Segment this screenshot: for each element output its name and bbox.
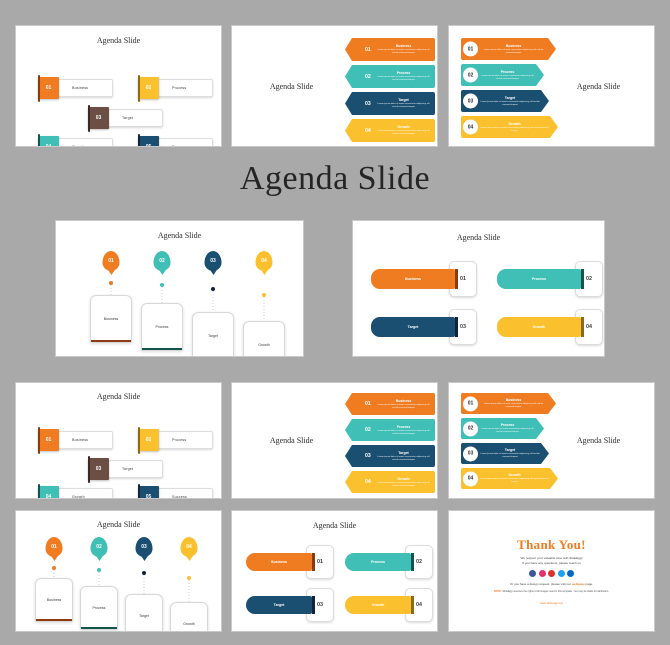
- chevron-body: Lorem ipsum dolor sit amet consectetur a…: [480, 49, 547, 55]
- thank-you-subtitle-line2: If you have any questions, please reach …: [520, 561, 582, 566]
- bar-item-02[interactable]: 02 Process: [497, 269, 603, 289]
- bar-accent: [455, 269, 458, 289]
- chevron-number-circle: 02: [462, 420, 479, 437]
- chevron-number: 03: [365, 453, 371, 459]
- flag-label: Success: [172, 495, 187, 499]
- flag-number: 02: [146, 438, 152, 443]
- flag-label: Business: [72, 86, 88, 90]
- chevron-text: Target Lorem ipsum dolor sit amet consec…: [377, 447, 430, 465]
- pin-connector: [189, 580, 190, 602]
- slide-title: Agenda Slide: [244, 436, 339, 445]
- bar-item-04[interactable]: 04 Growth: [497, 317, 603, 337]
- bar-number: 02: [416, 559, 422, 565]
- twitter-icon[interactable]: [558, 570, 565, 577]
- chevron-text: Process Lorem ipsum dolor sit amet conse…: [480, 420, 535, 437]
- bar-number: 01: [460, 276, 466, 282]
- bar-label: Process: [371, 560, 385, 564]
- flag-badge: 05: [138, 136, 159, 147]
- flag-number: 05: [146, 495, 152, 500]
- chevron-item-02[interactable]: 02 Process Lorem ipsum dolor sit amet co…: [345, 65, 435, 88]
- bar-shape: Process: [345, 553, 411, 571]
- bar-accent: [312, 596, 315, 614]
- slide-bars-row4-middle[interactable]: Agenda Slide 01 Business 02 Process 03: [231, 510, 438, 632]
- chevron-number: 04: [365, 479, 371, 485]
- flag-number: 04: [46, 145, 52, 148]
- chevron-number: 02: [468, 426, 474, 432]
- chevron-label: Business: [396, 399, 412, 403]
- chevron-number: 04: [468, 476, 474, 482]
- bar-label: Business: [405, 277, 421, 281]
- pin-label: Target: [139, 614, 149, 618]
- bar-accent: [581, 269, 584, 289]
- pin-card: Growth: [243, 321, 285, 357]
- contact-post: page.: [585, 582, 593, 586]
- chevron-number: 03: [468, 98, 474, 104]
- flag-badge: 05: [138, 486, 159, 499]
- slide-title: Agenda Slide: [353, 233, 604, 242]
- pin-card-base: [91, 340, 131, 343]
- flag-label: Growth: [72, 495, 85, 499]
- pin-label: Business: [47, 598, 62, 602]
- pin-marker: 04: [256, 251, 273, 271]
- chevron-label: Target: [505, 448, 515, 452]
- slide-flags-row3-left[interactable]: Agenda Slide 01 Business 02 Process 03 T…: [15, 382, 222, 499]
- chevron-label: Process: [397, 425, 411, 429]
- flag-label: Target: [122, 116, 133, 120]
- chevron-number: 02: [365, 427, 371, 433]
- bar-shape: Target: [246, 596, 312, 614]
- bar-label: Business: [271, 560, 287, 564]
- slide-title: Agenda Slide: [551, 82, 646, 91]
- chevron-body: Lorem ipsum dolor sit amet consectetur a…: [377, 456, 430, 462]
- bar-accent: [411, 553, 414, 571]
- pin-card: Process: [80, 586, 118, 630]
- pin-item-02[interactable]: 02 Process: [78, 537, 120, 632]
- pin-item-04[interactable]: 04 Growth: [241, 251, 287, 357]
- chevron-label: Process: [501, 423, 515, 427]
- bar-item-04[interactable]: 04 Growth: [345, 596, 433, 614]
- flag-number: 03: [96, 467, 102, 472]
- note-text: SlideEgg reserves the rights of all imag…: [502, 590, 609, 593]
- chevron-item-01[interactable]: 01 Business Lorem ipsum dolor sit amet c…: [461, 38, 556, 60]
- chevron-body: Lorem ipsum dolor sit amet consectetur a…: [480, 127, 549, 133]
- chevron-item-01[interactable]: 01 Business Lorem ipsum dolor sit amet c…: [345, 393, 435, 415]
- pin-number: 02: [159, 258, 165, 264]
- pin-connector: [54, 570, 55, 578]
- flag-number: 02: [146, 86, 152, 91]
- chevron-label: Target: [398, 451, 408, 455]
- pin-connector: [162, 287, 163, 303]
- flag-item-03[interactable]: 03 Target: [88, 109, 163, 127]
- flag-badge: 01: [38, 429, 59, 451]
- flag-pole: [38, 484, 40, 499]
- pin-number: 03: [141, 544, 147, 550]
- bar-shape: Business: [371, 269, 455, 289]
- flag-number: 01: [46, 438, 52, 443]
- flag-badge: 04: [38, 486, 59, 499]
- chevron-text: Process Lorem ipsum dolor sit amet conse…: [377, 67, 430, 86]
- chevron-text: Target Lorem ipsum dolor sit amet consec…: [480, 445, 540, 462]
- pin-item-03[interactable]: 03 Target: [190, 251, 236, 357]
- flag-badge: 01: [38, 77, 59, 99]
- bar-accent: [581, 317, 584, 337]
- chevron-number-circle: 04: [462, 470, 479, 487]
- slide-chevrons-row3-right[interactable]: Agenda Slide 01 Business Lorem ipsum dol…: [448, 382, 655, 499]
- pin-connector: [264, 297, 265, 321]
- chevron-label: Growth: [508, 473, 520, 477]
- chevron-label: Business: [506, 44, 522, 48]
- pin-connector: [213, 291, 214, 312]
- chevron-label: Target: [505, 96, 515, 100]
- flag-label: Target: [122, 467, 133, 471]
- chevron-item-02[interactable]: 02 Process Lorem ipsum dolor sit amet co…: [345, 419, 435, 441]
- pin-label: Target: [208, 334, 218, 338]
- chevron-item-04[interactable]: 04 Growth Lorem ipsum dolor sit amet con…: [345, 119, 435, 142]
- contact-line: Or you have a design request, please vis…: [510, 582, 593, 587]
- bar-label: Growth: [533, 325, 546, 329]
- pin-marker: 03: [136, 537, 153, 557]
- flag-item-04[interactable]: 04 Growth: [38, 138, 113, 147]
- attribution-note: NOTE: SlideEgg reserves the rights of al…: [494, 590, 609, 594]
- pin-marker: 01: [103, 251, 120, 271]
- chevron-text: Growth Lorem ipsum dolor sit amet consec…: [377, 473, 430, 491]
- slide-chevrons-top-right[interactable]: Agenda Slide 01 Business Lorem ipsum dol…: [448, 25, 655, 147]
- flag-pole: [138, 427, 140, 454]
- flag-pole: [138, 134, 140, 147]
- chevron-text: Growth Lorem ipsum dolor sit amet consec…: [377, 121, 430, 140]
- chevron-label: Business: [396, 44, 412, 48]
- slide-flags-top-left[interactable]: Agenda Slide 01 Business 02 Process 03 T…: [15, 25, 222, 147]
- chevron-number: 01: [365, 401, 371, 407]
- pin-card-base: [81, 627, 117, 630]
- chevron-text: Growth Lorem ipsum dolor sit amet consec…: [480, 470, 549, 487]
- pin-marker: 02: [154, 251, 171, 271]
- chevron-text: Business Lorem ipsum dolor sit amet cons…: [377, 395, 430, 413]
- chevron-body: Lorem ipsum dolor sit amet consectetur a…: [377, 76, 430, 82]
- chevron-body: Lorem ipsum dolor sit amet consectetur a…: [480, 403, 547, 409]
- chevron-item-03[interactable]: 03 Target Lorem ipsum dolor sit amet con…: [345, 92, 435, 115]
- linkedin-icon[interactable]: [567, 570, 574, 577]
- pin-card: Target: [125, 594, 163, 632]
- chevron-label: Process: [397, 71, 411, 75]
- bar-accent: [312, 553, 315, 571]
- slide-pins-mid-left[interactable]: Agenda Slide 01 Business 02 Process: [55, 220, 304, 357]
- pin-connector: [144, 575, 145, 594]
- chevron-text: Business Lorem ipsum dolor sit amet cons…: [480, 40, 547, 58]
- pin-number: 04: [261, 258, 267, 264]
- pin-number: 03: [210, 258, 216, 264]
- chevron-item-03[interactable]: 03 Target Lorem ipsum dolor sit amet con…: [461, 90, 549, 112]
- bar-label: Target: [274, 603, 285, 607]
- bar-accent: [455, 317, 458, 337]
- flag-label: Business: [72, 438, 88, 442]
- bar-shape: Target: [371, 317, 455, 337]
- instagram-icon[interactable]: [539, 570, 546, 577]
- pin-number: 02: [96, 544, 102, 550]
- bar-label: Process: [532, 277, 546, 281]
- chevron-body: Lorem ipsum dolor sit amet consectetur a…: [377, 404, 430, 410]
- chevron-label: Process: [501, 70, 515, 74]
- chevron-text: Process Lorem ipsum dolor sit amet conse…: [377, 421, 430, 439]
- pin-label: Process: [93, 606, 106, 610]
- pin-label: Growth: [183, 622, 195, 626]
- flag-item-05[interactable]: 05 Success: [138, 138, 213, 147]
- bar-number: 01: [317, 559, 323, 565]
- chevron-text: Business Lorem ipsum dolor sit amet cons…: [377, 40, 430, 59]
- bar-label: Growth: [372, 603, 385, 607]
- chevron-body: Lorem ipsum dolor sit amet consectetur a…: [480, 453, 540, 459]
- pin-card: Target: [192, 312, 234, 357]
- pin-number: 01: [51, 544, 57, 550]
- thank-you-content: Thank You! We respect your valuable time…: [449, 511, 654, 631]
- pin-marker: 01: [46, 537, 63, 557]
- pin-card: Growth: [170, 602, 208, 632]
- bar-shape: Growth: [345, 596, 411, 614]
- chevron-text: Target Lorem ipsum dolor sit amet consec…: [480, 92, 540, 110]
- slide-title: Agenda Slide: [56, 231, 303, 240]
- bar-item-03[interactable]: 03 Target: [246, 596, 334, 614]
- flag-item-04[interactable]: 04 Growth: [38, 488, 113, 499]
- bar-accent: [411, 596, 414, 614]
- chevron-item-01[interactable]: 01 Business Lorem ipsum dolor sit amet c…: [461, 393, 556, 414]
- flag-label: Success: [172, 145, 187, 147]
- pin-label: Growth: [258, 343, 270, 347]
- chevron-label: Growth: [508, 122, 520, 126]
- slide-title: Agenda Slide: [244, 82, 339, 91]
- chevron-label: Business: [506, 398, 522, 402]
- slide-title: Agenda Slide: [232, 521, 437, 530]
- pin-item-01[interactable]: 01 Business: [88, 251, 134, 351]
- site-url[interactable]: www.slideegg.com: [540, 601, 563, 605]
- flag-number: 05: [146, 145, 152, 148]
- note-label: NOTE:: [494, 590, 502, 593]
- chevron-number-circle: 01: [462, 395, 479, 412]
- bar-number: 03: [460, 324, 466, 330]
- facebook-icon[interactable]: [529, 570, 536, 577]
- flag-pole: [38, 134, 40, 147]
- pin-number: 04: [186, 544, 192, 550]
- chevron-item-01[interactable]: 01 Business Lorem ipsum dolor sit amet c…: [345, 38, 435, 61]
- chevron-text: Business Lorem ipsum dolor sit amet cons…: [480, 395, 547, 412]
- flag-item-02[interactable]: 02 Process: [138, 79, 213, 97]
- chevron-number: 01: [468, 46, 474, 52]
- bar-label: Target: [408, 325, 419, 329]
- slide-title: Agenda Slide: [16, 520, 221, 529]
- chevron-number-circle: 03: [462, 445, 479, 462]
- chevron-number-circle: 01: [462, 41, 479, 58]
- pin-connector: [111, 285, 112, 295]
- pin-card-base: [142, 348, 182, 351]
- flag-label: Growth: [72, 145, 85, 147]
- chevron-number-circle: 03: [462, 93, 479, 110]
- chevron-label: Target: [398, 98, 408, 102]
- pin-item-01[interactable]: 01 Business: [33, 537, 75, 629]
- slide-title: Agenda Slide: [551, 436, 646, 445]
- pin-item-03[interactable]: 03 Target: [123, 537, 165, 632]
- pin-item-02[interactable]: 02 Process: [139, 251, 185, 357]
- flag-label: Process: [172, 438, 186, 442]
- chevron-text: Target Lorem ipsum dolor sit amet consec…: [377, 94, 430, 113]
- flag-pole: [138, 75, 140, 102]
- chevron-number: 04: [468, 124, 474, 130]
- chevron-number: 04: [365, 128, 371, 134]
- flag-pole: [38, 427, 40, 454]
- slide-title: Agenda Slide: [16, 36, 221, 45]
- pin-card-base: [193, 357, 233, 358]
- chevron-number: 02: [365, 74, 371, 80]
- pin-item-04[interactable]: 04 Growth: [168, 537, 210, 632]
- chevron-body: Lorem ipsum dolor sit amet consectetur a…: [377, 49, 430, 55]
- slide-bars-mid-right[interactable]: Agenda Slide 01 Business 02 Process 03: [352, 220, 605, 357]
- flag-badge: 03: [88, 107, 109, 129]
- chevron-body: Lorem ipsum dolor sit amet consectetur a…: [480, 478, 549, 484]
- chevron-body: Lorem ipsum dolor sit amet consectetur a…: [377, 130, 430, 136]
- pin-card: Business: [90, 295, 132, 343]
- chevron-body: Lorem ipsum dolor sit amet consectetur a…: [480, 101, 540, 107]
- webpage-link[interactable]: webpage: [572, 582, 585, 586]
- thank-you-title: Thank You!: [517, 537, 586, 553]
- flag-item-03[interactable]: 03 Target: [88, 460, 163, 478]
- bar-shape: Process: [497, 269, 581, 289]
- chevron-number: 01: [365, 47, 371, 53]
- pin-card: Process: [141, 303, 183, 351]
- pin-card-base: [36, 619, 72, 622]
- pin-label: Business: [104, 317, 119, 321]
- flag-badge: 02: [138, 77, 159, 99]
- flag-number: 04: [46, 495, 52, 500]
- slide-chevrons-row3-middle[interactable]: Agenda Slide 01 Business Lorem ipsum dol…: [231, 382, 438, 499]
- presentation-preview-page: Agenda Slide 01 Business 02 Process 03 T…: [0, 0, 670, 645]
- chevron-number: 01: [468, 401, 474, 407]
- flag-badge: 03: [88, 458, 109, 480]
- youtube-icon[interactable]: [548, 570, 555, 577]
- flag-badge: 04: [38, 136, 59, 147]
- slide-chevrons-top-middle[interactable]: Agenda Slide 01 Business Lorem ipsum dol…: [231, 25, 438, 147]
- chevron-number: 03: [365, 101, 371, 107]
- chevron-text: Growth Lorem ipsum dolor sit amet consec…: [480, 118, 549, 136]
- chevron-body: Lorem ipsum dolor sit amet consectetur a…: [377, 482, 430, 488]
- page-title: Agenda Slide: [0, 160, 670, 198]
- chevron-item-04[interactable]: 04 Growth Lorem ipsum dolor sit amet con…: [461, 116, 558, 138]
- pin-number: 01: [108, 258, 114, 264]
- flag-pole: [138, 484, 140, 499]
- pin-label: Process: [156, 325, 169, 329]
- flag-pole: [88, 456, 90, 483]
- bar-item-01[interactable]: 01 Business: [246, 553, 334, 571]
- chevron-body: Lorem ipsum dolor sit amet consectetur a…: [377, 103, 430, 109]
- chevron-item-04[interactable]: 04 Growth Lorem ipsum dolor sit amet con…: [461, 468, 558, 489]
- chevron-number-circle: 04: [462, 119, 479, 136]
- social-links[interactable]: [529, 570, 574, 577]
- flag-pole: [38, 75, 40, 102]
- slide-thank-you[interactable]: Thank You! We respect your valuable time…: [448, 510, 655, 632]
- thank-you-subtitle: We respect your valuable time with Slide…: [520, 556, 582, 566]
- chevron-item-02[interactable]: 02 Process Lorem ipsum dolor sit amet co…: [461, 64, 544, 86]
- flag-number: 01: [46, 86, 52, 91]
- bar-number: 03: [317, 602, 323, 608]
- bar-item-02[interactable]: 02 Process: [345, 553, 433, 571]
- pin-marker: 02: [91, 537, 108, 557]
- bar-number: 04: [586, 324, 592, 330]
- chevron-label: Growth: [397, 477, 409, 481]
- chevron-text: Process Lorem ipsum dolor sit amet conse…: [480, 66, 535, 84]
- flag-item-02[interactable]: 02 Process: [138, 431, 213, 449]
- flag-item-05[interactable]: 05 Success: [138, 488, 213, 499]
- pin-marker: 04: [181, 537, 198, 557]
- bar-shape: Growth: [497, 317, 581, 337]
- flag-label: Process: [172, 86, 186, 90]
- contact-pre: Or you have a design request, please vis…: [510, 582, 572, 586]
- bar-number: 02: [586, 276, 592, 282]
- chevron-number-circle: 02: [462, 67, 479, 84]
- slide-title: Agenda Slide: [16, 392, 221, 401]
- flag-pole: [88, 105, 90, 132]
- flag-badge: 02: [138, 429, 159, 451]
- bar-shape: Business: [246, 553, 312, 571]
- chevron-item-02[interactable]: 02 Process Lorem ipsum dolor sit amet co…: [461, 418, 544, 439]
- flag-number: 03: [96, 116, 102, 121]
- chevron-label: Growth: [397, 125, 409, 129]
- bar-item-01[interactable]: 01 Business: [371, 269, 477, 289]
- chevron-item-04[interactable]: 04 Growth Lorem ipsum dolor sit amet con…: [345, 471, 435, 493]
- bar-number: 04: [416, 602, 422, 608]
- chevron-number: 02: [468, 72, 474, 78]
- chevron-number: 03: [468, 451, 474, 457]
- flag-item-01[interactable]: 01 Business: [38, 79, 113, 97]
- chevron-body: Lorem ipsum dolor sit amet consectetur a…: [377, 430, 430, 436]
- slide-pins-row4-left[interactable]: Agenda Slide 01 Business 02 Process: [15, 510, 222, 632]
- pin-connector: [99, 572, 100, 586]
- pin-card: Business: [35, 578, 73, 622]
- pin-marker: 03: [205, 251, 222, 271]
- chevron-body: Lorem ipsum dolor sit amet consectetur a…: [480, 75, 535, 81]
- chevron-body: Lorem ipsum dolor sit amet consectetur a…: [480, 428, 535, 434]
- chevron-item-03[interactable]: 03 Target Lorem ipsum dolor sit amet con…: [345, 445, 435, 467]
- flag-item-01[interactable]: 01 Business: [38, 431, 113, 449]
- bar-item-03[interactable]: 03 Target: [371, 317, 477, 337]
- chevron-item-03[interactable]: 03 Target Lorem ipsum dolor sit amet con…: [461, 443, 549, 464]
